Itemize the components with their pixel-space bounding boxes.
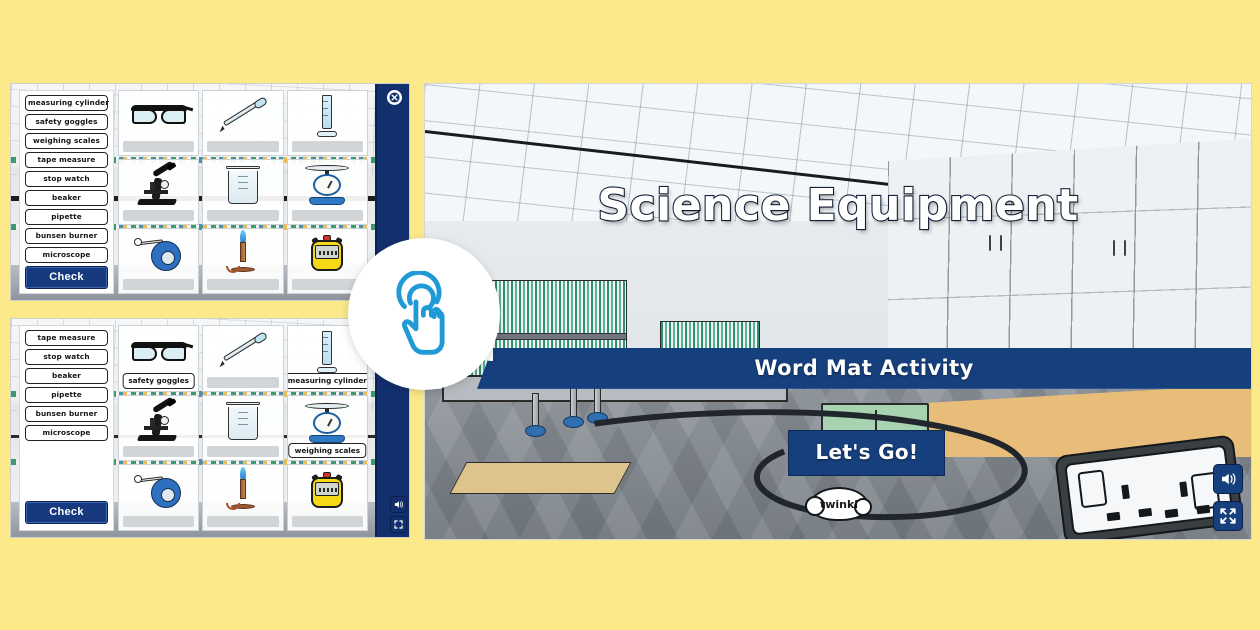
- picture-grid-top: [118, 90, 368, 294]
- pipette-icon: [203, 91, 282, 141]
- word-chip[interactable]: weighing scales: [25, 133, 108, 149]
- word-mat-panel-top[interactable]: measuring cylinder safety goggles weighi…: [10, 83, 410, 301]
- drop-slot[interactable]: [207, 446, 278, 457]
- grid-cell-bunsen-burner[interactable]: [202, 464, 283, 531]
- word-chip[interactable]: microscope: [25, 247, 108, 263]
- activity-banner: Word Mat Activity: [477, 348, 1251, 389]
- panel-controls: [390, 496, 407, 533]
- goggles-icon: [119, 91, 198, 141]
- word-chip[interactable]: pipette: [25, 387, 108, 403]
- drop-slot[interactable]: [207, 210, 278, 221]
- grid-cell-microscope[interactable]: [118, 159, 199, 225]
- grid-cell-pipette[interactable]: [202, 90, 283, 156]
- drop-slot[interactable]: [292, 141, 363, 152]
- word-chip[interactable]: tape measure: [25, 152, 108, 168]
- word-chip[interactable]: stop watch: [25, 349, 108, 365]
- word-bank-top[interactable]: measuring cylinder safety goggles weighi…: [19, 90, 114, 294]
- word-chip[interactable]: beaker: [25, 368, 108, 384]
- main-activity-scene[interactable]: Science Equipment Word Mat Activity Let'…: [424, 83, 1252, 540]
- drop-slot[interactable]: [207, 279, 278, 290]
- word-mat-panel-bottom[interactable]: tape measure stop watch beaker pipette b…: [10, 318, 410, 538]
- drop-slot[interactable]: [292, 210, 363, 221]
- picture-grid-bottom: safety goggles measuring cylinder: [118, 325, 368, 531]
- grid-cell-beaker[interactable]: [202, 395, 283, 462]
- grid-cell-weighing-scales[interactable]: [287, 159, 368, 225]
- word-chip[interactable]: bunsen burner: [25, 228, 108, 244]
- drop-slot[interactable]: [123, 446, 194, 457]
- word-chip[interactable]: beaker: [25, 190, 108, 206]
- word-bank-bottom[interactable]: tape measure stop watch beaker pipette b…: [19, 325, 114, 531]
- fullscreen-icon[interactable]: [1213, 501, 1243, 531]
- placed-answer-chip[interactable]: measuring cylinder: [287, 373, 368, 388]
- grid-cell-measuring-cylinder[interactable]: [287, 90, 368, 156]
- drop-slot[interactable]: [292, 516, 363, 527]
- placed-answer-chip[interactable]: safety goggles: [122, 373, 195, 388]
- close-icon[interactable]: [385, 88, 404, 107]
- grid-cell-weighing-scales[interactable]: weighing scales: [287, 395, 368, 462]
- word-chip[interactable]: measuring cylinder: [25, 95, 108, 111]
- word-chip[interactable]: pipette: [25, 209, 108, 225]
- fullscreen-icon[interactable]: [390, 516, 407, 533]
- grid-cell-goggles[interactable]: safety goggles: [118, 325, 199, 392]
- grid-cell-stop-watch[interactable]: [287, 464, 368, 531]
- tap-hand-cursor-icon: [348, 238, 500, 390]
- check-button[interactable]: Check: [25, 501, 108, 524]
- tape-measure-icon: [119, 465, 198, 516]
- grid-cell-bunsen-burner[interactable]: [202, 228, 283, 294]
- volume-icon[interactable]: [390, 496, 407, 513]
- drop-slot[interactable]: [207, 377, 278, 388]
- word-chip[interactable]: safety goggles: [25, 114, 108, 130]
- banner-text: Word Mat Activity: [754, 356, 973, 380]
- bunsen-burner-icon: [203, 465, 282, 516]
- microscope-icon: [119, 396, 198, 447]
- pipette-icon: [203, 326, 282, 377]
- drop-slot[interactable]: [123, 210, 194, 221]
- drop-slot[interactable]: [123, 279, 194, 290]
- drop-slot[interactable]: [207, 141, 278, 152]
- microscope-icon: [119, 160, 198, 210]
- beaker-icon: [203, 160, 282, 210]
- stopwatch-icon: [288, 229, 367, 279]
- lets-go-label: Let's Go!: [815, 440, 918, 464]
- word-chip[interactable]: microscope: [25, 425, 108, 441]
- stopwatch-icon: [288, 465, 367, 516]
- drop-slot[interactable]: [123, 516, 194, 527]
- volume-icon[interactable]: [1213, 464, 1243, 494]
- word-chip[interactable]: tape measure: [25, 330, 108, 346]
- measuring-cylinder-icon: [288, 91, 367, 141]
- tape-measure-icon: [119, 229, 198, 279]
- drop-slot[interactable]: [207, 516, 278, 527]
- grid-cell-tape-measure[interactable]: [118, 464, 199, 531]
- grid-cell-pipette[interactable]: [202, 325, 283, 392]
- grid-cell-goggles[interactable]: [118, 90, 199, 156]
- grid-cell-microscope[interactable]: [118, 395, 199, 462]
- grid-cell-tape-measure[interactable]: [118, 228, 199, 294]
- twinkl-logo-text: twinkl: [820, 498, 858, 511]
- check-button[interactable]: Check: [25, 266, 108, 289]
- word-chip[interactable]: stop watch: [25, 171, 108, 187]
- beaker-icon: [203, 396, 282, 447]
- twinkl-logo: twinkl: [809, 487, 869, 521]
- weighing-scales-icon: [288, 160, 367, 210]
- scene-controls: [1213, 464, 1243, 531]
- drop-slot[interactable]: [123, 141, 194, 152]
- word-chip[interactable]: bunsen burner: [25, 406, 108, 422]
- bunsen-burner-icon: [203, 229, 282, 279]
- grid-cell-beaker[interactable]: [202, 159, 283, 225]
- lets-go-button[interactable]: Let's Go!: [788, 430, 945, 476]
- placed-answer-chip[interactable]: weighing scales: [289, 443, 366, 458]
